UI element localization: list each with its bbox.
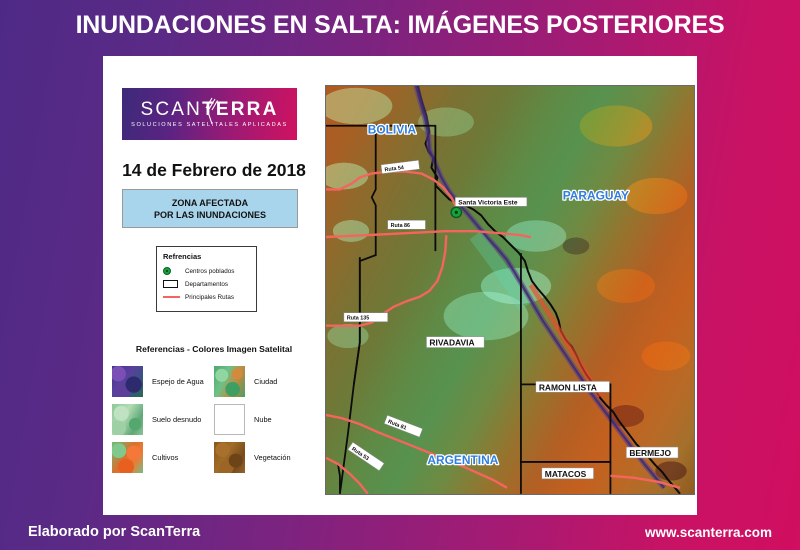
department-boundary-helper (360, 251, 436, 342)
city-marker-core-icon (455, 211, 458, 214)
department-boundary-west (326, 126, 376, 494)
footer-website[interactable]: www.scanterra.com (645, 525, 772, 540)
legend-item-vegetacion: Vegetación (214, 438, 316, 476)
department-boundary-south (338, 464, 340, 494)
references-title: Refrencias (163, 252, 256, 261)
content-card: SCANTERRA SOLUCIONES SATELITALES APLICAD… (103, 56, 697, 515)
department-helper-2 (360, 126, 436, 257)
footer-credit: Elaborado por ScanTerra (28, 524, 200, 540)
logo-name-light: SCAN (140, 99, 202, 120)
black-outline-rect-icon (163, 280, 185, 288)
legend-item-ciudad: Ciudad (214, 362, 316, 400)
map-label-paraguay: PARAGUAY (563, 188, 629, 202)
route-label-81: Ruta 81 (384, 415, 422, 437)
route-label-53: Ruta 53 (348, 442, 384, 471)
legend-item-suelo-desnudo: Suelo desnudo (112, 400, 214, 438)
reference-item-centros-poblados: Centros poblados (163, 265, 256, 277)
city-swatch (214, 366, 245, 397)
water-swatch (112, 366, 143, 397)
legend-label: Ciudad (254, 377, 277, 386)
zona-line-2: POR LAS INUNDACIONES (154, 210, 266, 220)
map-label-bolivia: BOLIVIA (368, 123, 417, 137)
reference-label: Centros poblados (185, 268, 234, 275)
route-label-135: Ruta 135 (344, 313, 388, 322)
logo-tagline: SOLUCIONES SATELITALES APLICADAS (122, 121, 297, 129)
flood-vegetation-band (475, 235, 525, 307)
map-label-matacos: MATACOS (545, 469, 587, 479)
vegetation-swatch (214, 442, 245, 473)
country-border-line (417, 86, 680, 494)
date-label: 14 de Febrero de 2018 (103, 160, 325, 181)
legend-label: Vegetación (254, 453, 291, 462)
reference-item-principales-rutas: Principales Rutas (163, 291, 256, 303)
map-label-bermejo: BERMEJO (629, 448, 671, 458)
legend-label: Nube (254, 415, 272, 424)
river-corridor (416, 86, 665, 488)
legend-label: Suelo desnudo (152, 415, 201, 424)
poster-root: INUNDACIONES EN SALTA: IMÁGENES POSTERIO… (0, 0, 800, 550)
map-label-ramon-lista: RAMON LISTA (539, 382, 597, 392)
satellite-legend-title: Referencias - Colores Imagen Satelital (103, 344, 325, 354)
reference-label: Principales Rutas (185, 294, 234, 301)
satellite-map[interactable]: BOLIVIA PARAGUAY ARGENTINA RIVADAVIA RAM… (325, 85, 695, 495)
green-dot-icon (163, 267, 185, 275)
zona-afectada-text: ZONA AFECTADA POR LAS INUNDACIONES (154, 197, 266, 221)
route-135-line (326, 235, 446, 326)
zona-afectada-box: ZONA AFECTADA POR LAS INUNDACIONES (122, 189, 298, 228)
map-vector-overlay: BOLIVIA PARAGUAY ARGENTINA RIVADAVIA RAM… (326, 86, 694, 494)
svg-text:Ruta 135: Ruta 135 (347, 316, 369, 322)
legend-item-cultivos: Cultivos (112, 438, 214, 476)
legend-item-nube: Nube (214, 400, 316, 438)
reference-label: Departamentos (185, 281, 228, 288)
cloud-swatch (214, 404, 245, 435)
map-label-argentina: ARGENTINA (427, 453, 498, 467)
route-label-86: Ruta 86 (388, 220, 426, 229)
zona-line-1: ZONA AFECTADA (172, 198, 248, 208)
bare-soil-swatch (112, 404, 143, 435)
legend-label: Espejo de Agua (152, 377, 204, 386)
references-box: Refrencias Centros poblados Departamento… (156, 246, 257, 312)
legend-item-espejo-de-agua: Espejo de Agua (112, 362, 214, 400)
scanterra-logo: SCANTERRA SOLUCIONES SATELITALES APLICAD… (122, 88, 297, 140)
reference-item-departamentos: Departamentos (163, 278, 256, 290)
crops-swatch (112, 442, 143, 473)
route-86-line (326, 231, 531, 237)
satellite-legend-grid: Espejo de Agua Ciudad Suelo desnudo Nube (112, 362, 316, 476)
map-label-santa-victoria-este: Santa Victoria Este (458, 199, 518, 206)
red-line-icon (163, 296, 185, 299)
route-53-line (326, 456, 368, 494)
svg-text:Ruta 86: Ruta 86 (391, 223, 410, 229)
legend-label: Cultivos (152, 453, 178, 462)
left-info-panel: SCANTERRA SOLUCIONES SATELITALES APLICAD… (103, 56, 325, 515)
river-line (416, 86, 665, 488)
map-label-rivadavia: RIVADAVIA (429, 338, 474, 348)
page-title: INUNDACIONES EN SALTA: IMÁGENES POSTERIO… (0, 8, 800, 42)
flood-streak (531, 285, 601, 396)
